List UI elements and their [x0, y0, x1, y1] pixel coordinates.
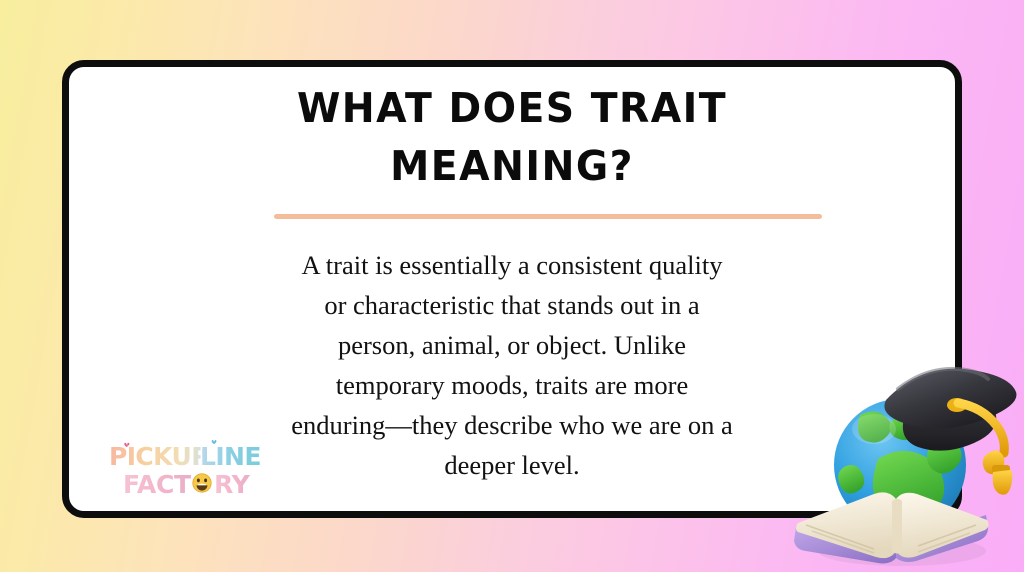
- body-line-3: person, animal, or object. Unlike: [119, 325, 905, 365]
- poster-canvas: WHAT DOES TRAIT MEANING? A trait is esse…: [0, 0, 1024, 572]
- card-inner: WHAT DOES TRAIT MEANING? A trait is esse…: [69, 67, 955, 511]
- brand-logo[interactable]: PICKUP LINE FACT: [105, 431, 265, 499]
- logo-word-factory-a: FACT: [123, 470, 191, 499]
- body-line-2: or characteristic that stands out in a: [119, 285, 905, 325]
- logo-word-factory-b: RY: [214, 470, 251, 499]
- page-title: WHAT DOES TRAIT MEANING?: [87, 79, 938, 195]
- title-line-1: WHAT DOES TRAIT: [87, 79, 938, 137]
- title-divider: [274, 214, 822, 219]
- body-line-1: A trait is essentially a consistent qual…: [119, 245, 905, 285]
- content-card: WHAT DOES TRAIT MEANING? A trait is esse…: [62, 60, 962, 518]
- smiley-face-icon: [191, 472, 212, 493]
- logo-word-pickup: PICKUP: [109, 442, 209, 471]
- logo-word-line: LINE: [200, 442, 261, 471]
- body-line-4: temporary moods, traits are more: [119, 365, 905, 405]
- tassel-icon: [958, 403, 1012, 495]
- illustration-shadow: [818, 536, 986, 566]
- title-line-2: MEANING?: [87, 137, 938, 195]
